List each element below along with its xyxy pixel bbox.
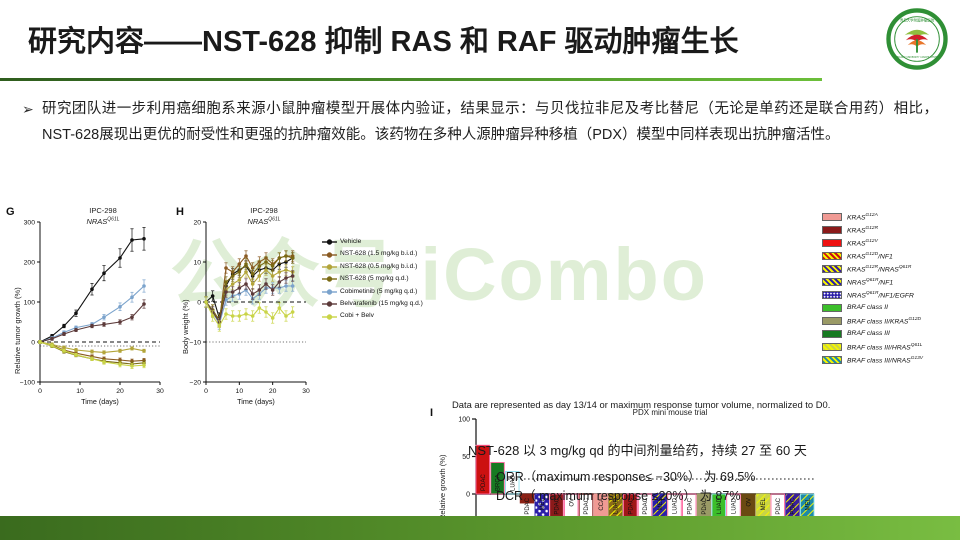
waterfall-bar-label: MEL bbox=[761, 497, 767, 510]
svg-text:200: 200 bbox=[24, 260, 36, 267]
svg-text:青岛大学附属肿瘤医院: 青岛大学附属肿瘤医院 bbox=[900, 18, 935, 23]
legend-item: NST-628 (0.5 mg/kg b.i.d.) bbox=[322, 261, 423, 273]
legend-label: NST-628 (1.5 mg/kg b.i.d.) bbox=[340, 248, 417, 260]
university-cancer-center-logo: 青岛大学附属肿瘤医院 QINGDAO UNIVERSITY CANCER CEN… bbox=[886, 8, 948, 70]
legend-swatch-icon bbox=[822, 343, 842, 351]
waterfall-bar-label: MEL bbox=[805, 497, 811, 510]
legend-marker-icon bbox=[322, 275, 337, 283]
svg-text:0: 0 bbox=[466, 492, 470, 499]
svg-text:300: 300 bbox=[24, 220, 36, 227]
dosing-summary: NST-628 以 3 mg/kg qd 的中间剂量给药，持续 27 至 60 … bbox=[468, 440, 807, 459]
waterfall-bar-label: PDAC bbox=[791, 497, 797, 514]
waterfall-bar-label: PDAC bbox=[481, 474, 487, 491]
legend-item: Cobimetinib (5 mg/kg q.d.) bbox=[322, 286, 423, 298]
svg-text:0: 0 bbox=[38, 388, 42, 395]
legend-item: NST-628 (1.5 mg/kg b.i.d.) bbox=[322, 248, 423, 260]
bullet-marker-icon: ➢ bbox=[22, 96, 42, 122]
genotype-legend: KRASG12AKRASG12RKRASG12VKRASG12D/NF1KRAS… bbox=[822, 210, 923, 366]
svg-text:QINGDAO UNIVERSITY CANCER CENT: QINGDAO UNIVERSITY CANCER CENTER bbox=[895, 56, 940, 59]
legend-label: Vehicle bbox=[340, 236, 361, 248]
panel-g-plot: −10001002003000102030Time (days) bbox=[6, 204, 176, 414]
svg-text:−100: −100 bbox=[20, 380, 36, 387]
legend-label: Cobimetinib (5 mg/kg q.d.) bbox=[340, 286, 417, 298]
body-bullet-block: ➢ 研究团队进一步利用癌细胞系来源小鼠肿瘤模型开展体内验证，结果显示：与贝伐拉非… bbox=[22, 96, 938, 148]
footer-bar bbox=[0, 516, 960, 540]
svg-text:−10: −10 bbox=[189, 340, 201, 347]
legend-marker-icon bbox=[322, 313, 337, 321]
svg-text:Time (days): Time (days) bbox=[81, 397, 119, 406]
legend-swatch-icon bbox=[822, 317, 842, 325]
figure-caption: Data are represented as day 13/14 or max… bbox=[452, 399, 830, 410]
legend-marker-icon bbox=[322, 288, 337, 296]
svg-text:20: 20 bbox=[269, 388, 277, 395]
legend-item: Vehicle bbox=[322, 236, 423, 248]
svg-text:Time (days): Time (days) bbox=[237, 397, 275, 406]
panel-g: G IPC-298 NRASQ61L Relative tumor growth… bbox=[6, 204, 176, 414]
svg-text:30: 30 bbox=[302, 388, 310, 395]
svg-text:10: 10 bbox=[76, 388, 84, 395]
orr-line: ORR（maximum response≤ −30%） 为 69.5% bbox=[496, 468, 755, 487]
svg-text:30: 30 bbox=[156, 388, 164, 395]
svg-text:−20: −20 bbox=[189, 380, 201, 387]
svg-text:0: 0 bbox=[204, 388, 208, 395]
waterfall-bar-label: PDAC bbox=[776, 497, 782, 514]
genotype-legend-label: NRASQ61R/NF1/EGFR bbox=[847, 287, 914, 302]
title-divider bbox=[0, 78, 822, 81]
legend-swatch-icon bbox=[822, 278, 842, 286]
svg-text:20: 20 bbox=[193, 220, 201, 227]
svg-text:20: 20 bbox=[116, 388, 124, 395]
genotype-legend-label: BRAF class II/KRASG12D bbox=[847, 313, 921, 328]
dcr-line: DCR（ maximum response ≤20%） 为 87% bbox=[496, 487, 755, 506]
genotype-legend-item: NRASQ61R/NF1/EGFR bbox=[822, 288, 923, 301]
legend-label: Belvarafenib (15 mg/kg q.d.) bbox=[340, 298, 423, 310]
svg-text:10: 10 bbox=[236, 388, 244, 395]
genotype-legend-item: BRAF class II/KRASG12D bbox=[822, 314, 923, 327]
genotype-legend-item: BRAF class III/NRASG13V bbox=[822, 353, 923, 366]
legend-swatch-icon bbox=[822, 252, 842, 260]
legend-marker-icon bbox=[322, 300, 337, 308]
page-title: 研究内容——NST-628 抑制 RAS 和 RAF 驱动肿瘤生长 bbox=[28, 18, 838, 60]
bullet-text: 研究团队进一步利用癌细胞系来源小鼠肿瘤模型开展体内验证，结果显示：与贝伐拉非尼及… bbox=[42, 96, 938, 148]
legend-swatch-icon bbox=[822, 304, 842, 312]
svg-text:10: 10 bbox=[193, 260, 201, 267]
treatment-legend: VehicleNST-628 (1.5 mg/kg b.i.d.)NST-628… bbox=[322, 236, 423, 323]
legend-label: NST-628 (0.5 mg/kg b.i.d.) bbox=[340, 261, 417, 273]
legend-item: NST-628 (5 mg/kg q.d.) bbox=[322, 273, 423, 285]
genotype-legend-label: BRAF class III/NRASG13V bbox=[847, 352, 923, 367]
legend-swatch-icon bbox=[822, 330, 842, 338]
legend-item: Belvarafenib (15 mg/kg q.d.) bbox=[322, 298, 423, 310]
svg-text:0: 0 bbox=[31, 340, 35, 347]
legend-label: NST-628 (5 mg/kg q.d.) bbox=[340, 273, 409, 285]
legend-swatch-icon bbox=[822, 265, 842, 273]
panel-h: H IPC-298 NRASQ61L Body weight (%) −20−1… bbox=[176, 204, 326, 414]
svg-text:100: 100 bbox=[458, 417, 470, 424]
panel-h-plot: −20−10010200102030Time (days) bbox=[176, 204, 326, 414]
legend-swatch-icon bbox=[822, 226, 842, 234]
legend-marker-icon bbox=[322, 263, 337, 271]
legend-marker-icon bbox=[322, 251, 337, 259]
response-summary: ORR（maximum response≤ −30%） 为 69.5% DCR（… bbox=[496, 468, 755, 506]
legend-swatch-icon bbox=[822, 239, 842, 247]
legend-swatch-icon bbox=[822, 291, 842, 299]
legend-marker-icon bbox=[322, 238, 337, 246]
figure-area: G IPC-298 NRASQ61L Relative tumor growth… bbox=[0, 200, 960, 415]
legend-swatch-icon bbox=[822, 213, 842, 221]
legend-label: Cobi + Belv bbox=[340, 310, 374, 322]
legend-item: Cobi + Belv bbox=[322, 310, 423, 322]
svg-text:100: 100 bbox=[24, 300, 36, 307]
svg-text:0: 0 bbox=[197, 300, 201, 307]
legend-swatch-icon bbox=[822, 356, 842, 364]
